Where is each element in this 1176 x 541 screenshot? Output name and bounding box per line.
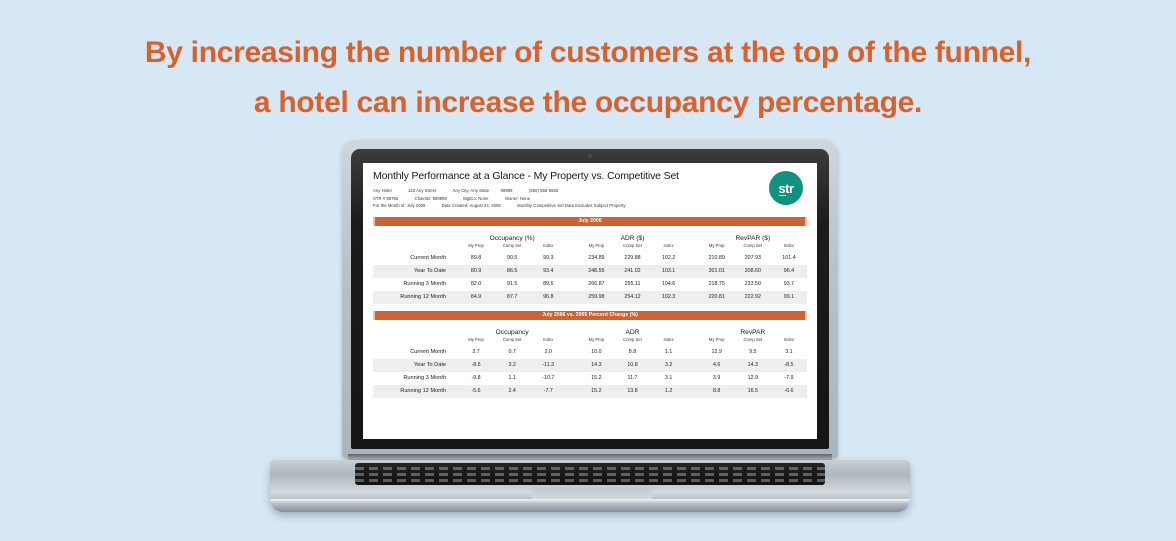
table-cell: 101.4 [771, 252, 807, 265]
table-cell: 15.2 [578, 385, 614, 398]
group-header-row: Occupancy (%) ADR ($) RevPAR ($) [373, 227, 807, 243]
table-row: Running 3 Month82.091.589.6266.87255.111… [373, 278, 807, 291]
table-cell: 87.7 [494, 291, 530, 304]
row-label: Current Month [373, 346, 458, 359]
sub-header-index: Index [530, 243, 566, 252]
table-cell: 8.8 [699, 385, 735, 398]
table-cell: 3.2 [494, 359, 530, 372]
cell-spacer [566, 372, 578, 385]
table-row: Year To Date-8.53.2-11.314.310.83.24.614… [373, 359, 807, 372]
table-cell: 3.1 [651, 372, 687, 385]
table-cell: 210.89 [699, 252, 735, 265]
group-header-occupancy: Occupancy (%) [458, 227, 566, 243]
row-label: Running 3 Month [373, 372, 458, 385]
table-cell: 102.3 [651, 291, 687, 304]
sub-header-compset: Comp Set [735, 337, 771, 346]
table-cell: 3.2 [651, 359, 687, 372]
sub-spacer [373, 337, 458, 346]
table-cell: 93.4 [530, 265, 566, 278]
laptop-lid: Monthly Performance at a Glance - My Pro… [342, 140, 838, 458]
sub-header-index: Index [771, 243, 807, 252]
row-label: Current Month [373, 252, 458, 265]
table-cell: 96.4 [771, 265, 807, 278]
table-cell: 2.0 [530, 346, 566, 359]
table-cell: -11.3 [530, 359, 566, 372]
table-cell: 102.2 [651, 252, 687, 265]
table-cell: -8.5 [458, 359, 494, 372]
sub-header-compset: Comp Set [494, 243, 530, 252]
table-cell: -7.9 [771, 372, 807, 385]
table-cell: 89.6 [530, 278, 566, 291]
table-cell: 13.8 [614, 385, 650, 398]
cell-spacer [566, 252, 578, 265]
table-cell: 3.9 [699, 372, 735, 385]
sub-header-myprop: My Prop [578, 243, 614, 252]
table-cell: 12.9 [735, 372, 771, 385]
laptop-trackpad [532, 487, 652, 505]
cell-spacer [566, 346, 578, 359]
sub-header-compset: Comp Set [494, 337, 530, 346]
table-cell: 234.89 [578, 252, 614, 265]
table-banner-2: July 2006 vs. 2005 Percent Change (%) [373, 311, 807, 320]
table-row: Running 12 Month-5.62.4-7.715.213.81.28.… [373, 385, 807, 398]
table-cell: -9.8 [458, 372, 494, 385]
table-cell: 89.8 [458, 252, 494, 265]
table-cell: 201.01 [699, 265, 735, 278]
table-cell: 2.7 [458, 346, 494, 359]
laptop-base [270, 460, 910, 512]
sub-header-compset: Comp Set [614, 337, 650, 346]
group-header-adr: ADR [578, 321, 686, 337]
meta-mgt-co: MgtCo: None [463, 195, 488, 203]
headline-line-1: By increasing the number of customers at… [0, 28, 1176, 78]
table-row: Current Month2.70.72.010.08.81.112.99.53… [373, 346, 807, 359]
table-cell: 90.5 [494, 252, 530, 265]
meta-hotel-name: Any Hotel [373, 187, 392, 195]
sub-header-myprop: My Prop [578, 337, 614, 346]
table-cell: 218.75 [699, 278, 735, 291]
table-cell: 1.2 [651, 385, 687, 398]
table-cell: 1.1 [651, 346, 687, 359]
meta-line-dates: For the Month of: July 2006 Date Created… [373, 202, 807, 210]
group-spacer [373, 227, 458, 243]
group-header-revpar: RevPAR ($) [699, 227, 807, 243]
table-cell: 3.1 [771, 346, 807, 359]
table-row: Running 3 Month-9.81.1-10.715.211.73.13.… [373, 372, 807, 385]
sub-header-myprop: My Prop [458, 337, 494, 346]
table-cell: 229.88 [614, 252, 650, 265]
row-label: Running 12 Month [373, 385, 458, 398]
cell-spacer [566, 291, 578, 304]
table-cell: 14.3 [578, 359, 614, 372]
sub-header-compset: Comp Set [735, 243, 771, 252]
group-header-row: Occupancy ADR RevPAR [373, 321, 807, 337]
sub-spacer [373, 243, 458, 252]
table-cell: 222.92 [735, 291, 771, 304]
sub-spacer [687, 243, 699, 252]
cell-spacer [566, 278, 578, 291]
table-row: Year To Date80.986.593.4248.55241.02103.… [373, 265, 807, 278]
sub-header-index: Index [771, 337, 807, 346]
group-spacer [687, 321, 699, 337]
table-cell: 8.8 [614, 346, 650, 359]
table-cell: 104.6 [651, 278, 687, 291]
sub-header-compset: Comp Set [614, 243, 650, 252]
table-cell: 82.0 [458, 278, 494, 291]
cell-spacer [566, 385, 578, 398]
table-cell: -8.5 [771, 359, 807, 372]
table-cell: 96.8 [530, 291, 566, 304]
row-label: Year To Date [373, 265, 458, 278]
table-body-2: Current Month2.70.72.010.08.81.112.99.53… [373, 346, 807, 398]
report-meta: Any Hotel 123 Any Street Any City, Any S… [373, 187, 807, 210]
table-cell: 0.7 [494, 346, 530, 359]
cell-spacer [687, 346, 699, 359]
table-cell: 255.11 [614, 278, 650, 291]
table-cell: 248.55 [578, 265, 614, 278]
meta-zip: 99999 [501, 187, 513, 195]
row-label: Running 12 Month [373, 291, 458, 304]
meta-city-state: Any City, Any State [453, 187, 489, 195]
sub-spacer [687, 337, 699, 346]
group-spacer [687, 227, 699, 243]
table-cell: 10.0 [578, 346, 614, 359]
headline-line-2: a hotel can increase the occupancy perce… [0, 78, 1176, 128]
table-cell: 80.9 [458, 265, 494, 278]
performance-table-2: Occupancy ADR RevPAR My Prop Comp Set In… [373, 321, 807, 398]
sub-header-myprop: My Prop [699, 337, 735, 346]
cell-spacer [687, 291, 699, 304]
table-cell: 14.3 [735, 359, 771, 372]
sub-spacer [566, 337, 578, 346]
laptop-screen: Monthly Performance at a Glance - My Pro… [363, 163, 817, 439]
table-row: Running 12 Month84.987.796.8259.98254.12… [373, 291, 807, 304]
table-cell: 103.1 [651, 265, 687, 278]
cell-spacer [687, 265, 699, 278]
table-cell: 220.81 [699, 291, 735, 304]
table-cell: -7.7 [530, 385, 566, 398]
cell-spacer [687, 385, 699, 398]
meta-line-ids: STR # 98765 ChainID: 999999 MgtCo: None … [373, 195, 807, 203]
str-report: Monthly Performance at a Glance - My Pro… [363, 163, 817, 398]
laptop-keyboard [355, 463, 825, 485]
meta-phone: (555) 555-5555 [529, 187, 558, 195]
meta-street: 123 Any Street [408, 187, 436, 195]
cell-spacer [566, 359, 578, 372]
sub-header-row: My Prop Comp Set Index My Prop Comp Set … [373, 337, 807, 346]
table-cell: 266.87 [578, 278, 614, 291]
table-cell: 86.5 [494, 265, 530, 278]
row-label: Year To Date [373, 359, 458, 372]
cell-spacer [687, 372, 699, 385]
sub-header-myprop: My Prop [699, 243, 735, 252]
table-body-1: Current Month89.890.599.3234.89229.88102… [373, 252, 807, 304]
sub-header-myprop: My Prop [458, 243, 494, 252]
table-cell: 16.5 [735, 385, 771, 398]
table-cell: 259.98 [578, 291, 614, 304]
table-cell: 91.5 [494, 278, 530, 291]
meta-chain-id: ChainID: 999999 [415, 195, 447, 203]
table-cell: 10.8 [614, 359, 650, 372]
table-cell: 233.50 [735, 278, 771, 291]
group-spacer [566, 227, 578, 243]
group-spacer [566, 321, 578, 337]
table-cell: 99.3 [530, 252, 566, 265]
row-label: Running 3 Month [373, 278, 458, 291]
str-logo-icon: str [769, 171, 803, 205]
group-header-occupancy: Occupancy [458, 321, 566, 337]
screen-bezel: Monthly Performance at a Glance - My Pro… [351, 149, 829, 449]
table-cell: 207.93 [735, 252, 771, 265]
table-cell: 84.9 [458, 291, 494, 304]
table-cell: -10.7 [530, 372, 566, 385]
table-cell: 4.6 [699, 359, 735, 372]
table-cell: 9.5 [735, 346, 771, 359]
report-title: Monthly Performance at a Glance - My Pro… [373, 170, 807, 182]
table-cell: 93.7 [771, 278, 807, 291]
cell-spacer [687, 252, 699, 265]
meta-note: Monthly Competitive Set Data Excludes Su… [517, 202, 625, 210]
group-header-adr: ADR ($) [578, 227, 686, 243]
table-cell: 208.60 [735, 265, 771, 278]
table-cell: 11.7 [614, 372, 650, 385]
sub-header-row: My Prop Comp Set Index My Prop Comp Set … [373, 243, 807, 252]
group-spacer [373, 321, 458, 337]
headline: By increasing the number of customers at… [0, 28, 1176, 128]
cell-spacer [687, 278, 699, 291]
table-banner-1: July 2006 [373, 217, 807, 226]
table-cell: 2.4 [494, 385, 530, 398]
keyboard-row [355, 473, 825, 476]
keyboard-row [355, 467, 825, 470]
sub-spacer [566, 243, 578, 252]
cell-spacer [566, 265, 578, 278]
table-cell: 99.1 [771, 291, 807, 304]
meta-date-created: Date Created: August 24, 2006 [442, 202, 501, 210]
sub-header-index: Index [530, 337, 566, 346]
table-cell: 15.2 [578, 372, 614, 385]
webcam-icon [588, 154, 592, 158]
cell-spacer [687, 359, 699, 372]
meta-line-address: Any Hotel 123 Any Street Any City, Any S… [373, 187, 807, 195]
keyboard-row [355, 479, 825, 482]
laptop-device: Monthly Performance at a Glance - My Pro… [270, 140, 910, 520]
table-cell: 1.1 [494, 372, 530, 385]
table-cell: 241.02 [614, 265, 650, 278]
table-cell: -5.6 [458, 385, 494, 398]
meta-owner: Owner: None [505, 195, 530, 203]
group-header-revpar: RevPAR [699, 321, 807, 337]
sub-header-index: Index [651, 337, 687, 346]
table-cell: 12.9 [699, 346, 735, 359]
table-cell: 254.12 [614, 291, 650, 304]
laptop-front-notch [560, 502, 622, 505]
table-row: Current Month89.890.599.3234.89229.88102… [373, 252, 807, 265]
meta-month: For the Month of: July 2006 [373, 202, 425, 210]
table-cell: -6.6 [771, 385, 807, 398]
meta-str-number: STR # 98765 [373, 195, 398, 203]
sub-header-index: Index [651, 243, 687, 252]
performance-table-1: Occupancy (%) ADR ($) RevPAR ($) My Prop… [373, 227, 807, 304]
